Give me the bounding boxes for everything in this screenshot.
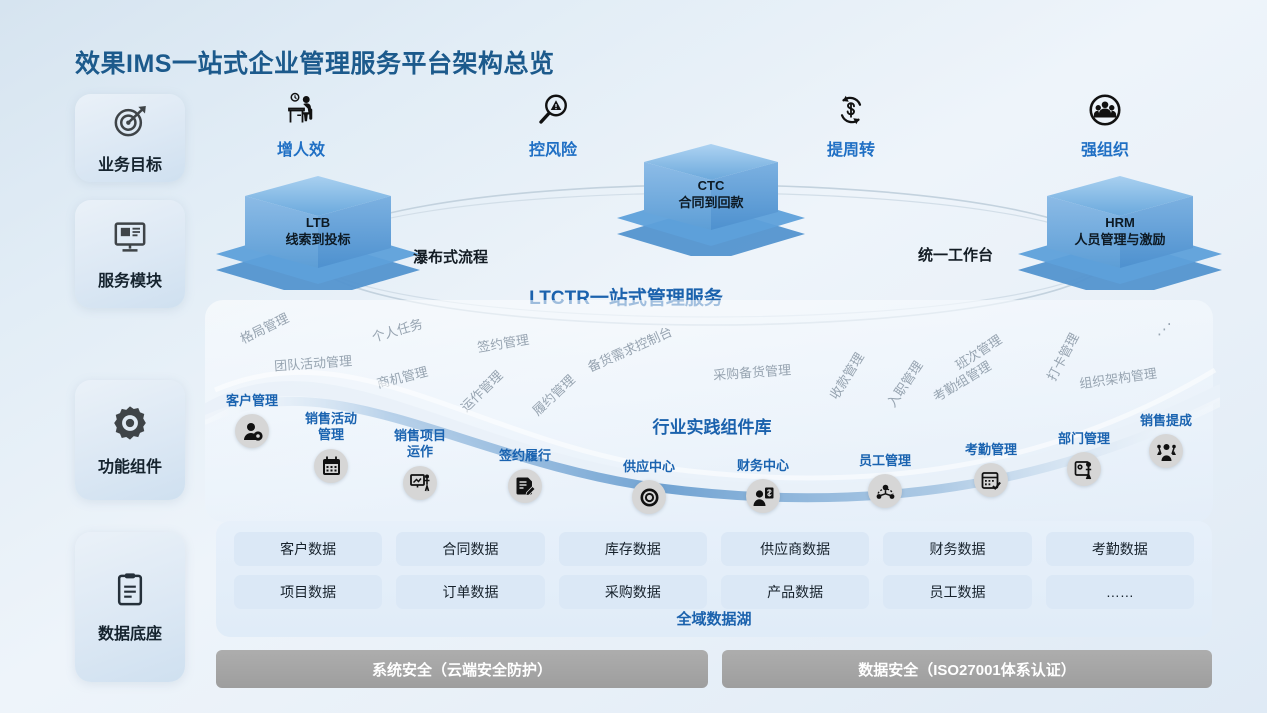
component-node-label: 销售提成: [1140, 413, 1192, 429]
monitor-icon: [110, 217, 150, 257]
people-circle-icon: [1087, 92, 1123, 128]
cycle-money-icon: [833, 92, 869, 128]
data-lake-cell[interactable]: 员工数据: [883, 575, 1031, 609]
data-lake-cell[interactable]: 合同数据: [396, 532, 544, 566]
component-node[interactable]: 考勤管理: [943, 442, 1039, 497]
target-icon: [110, 101, 150, 141]
sidebar-item-label: 服务模块: [98, 267, 162, 291]
sidebar-item-label: 业务目标: [98, 151, 162, 175]
data-lake-title: 全域数据湖: [216, 608, 1212, 629]
data-lake-cell[interactable]: 供应商数据: [721, 532, 869, 566]
commission-icon[interactable]: [1149, 434, 1183, 468]
calendar-icon[interactable]: [314, 449, 348, 483]
component-node[interactable]: 销售提成: [1118, 413, 1214, 468]
sidebar-item-label: 功能组件: [98, 453, 162, 477]
component-node[interactable]: 供应中心: [601, 459, 697, 514]
component-node-label: 财务中心: [737, 458, 789, 474]
component-node-label: 员工管理: [859, 453, 911, 469]
user-gear-icon[interactable]: [235, 414, 269, 448]
goal-label: 增人效: [277, 136, 325, 160]
sidebar-item-business-goal[interactable]: 业务目标: [75, 94, 185, 182]
gear-icon: [110, 403, 150, 443]
presentation-icon[interactable]: [403, 466, 437, 500]
goal-control-risk[interactable]: 控风险: [493, 92, 613, 160]
magnifier-warning-icon: [535, 92, 571, 128]
page-title: 效果IMS一站式企业管理服务平台架构总览: [75, 44, 554, 80]
data-lake-cell[interactable]: 客户数据: [234, 532, 382, 566]
component-node-label: 签约履行: [499, 448, 551, 464]
component-node[interactable]: 销售项目 运作: [372, 428, 468, 500]
attendance-icon[interactable]: [974, 463, 1008, 497]
component-node-label: 考勤管理: [965, 442, 1017, 458]
goal-label: 强组织: [1081, 136, 1129, 160]
component-node[interactable]: 财务中心: [715, 458, 811, 513]
flow-label-waterfall: 瀑布式流程: [413, 246, 488, 267]
component-node-label: 客户管理: [226, 393, 278, 409]
data-lake-cell[interactable]: ……: [1046, 575, 1194, 609]
supply-gear-icon[interactable]: [632, 480, 666, 514]
data-lake-cell[interactable]: 采购数据: [559, 575, 707, 609]
data-lake-cell[interactable]: 库存数据: [559, 532, 707, 566]
goal-label: 提周转: [827, 136, 875, 160]
data-lake-cell[interactable]: 项目数据: [234, 575, 382, 609]
finance-person-icon[interactable]: [746, 479, 780, 513]
goal-strengthen-organization[interactable]: 强组织: [1045, 92, 1165, 160]
data-lake-cell[interactable]: 订单数据: [396, 575, 544, 609]
sidebar-item-label: 数据底座: [98, 620, 162, 644]
module-cube-ltb[interactable]: LTB 线索到投标: [198, 170, 438, 290]
component-node-label: 部门管理: [1058, 431, 1110, 447]
security-bar-data[interactable]: 数据安全（ISO27001体系认证）: [722, 650, 1212, 688]
component-node-label: 销售活动 管理: [305, 411, 357, 444]
architecture-diagram: 效果IMS一站式企业管理服务平台架构总览 业务目标 服务模块 功能: [0, 0, 1267, 713]
component-node[interactable]: 销售活动 管理: [283, 411, 379, 483]
staff-network-icon[interactable]: [868, 474, 902, 508]
sidebar-item-data-foundation[interactable]: 数据底座: [75, 532, 185, 682]
data-lake-cell[interactable]: 产品数据: [721, 575, 869, 609]
data-lake-panel: 客户数据合同数据库存数据供应商数据财务数据考勤数据项目数据订单数据采购数据产品数…: [216, 521, 1212, 637]
security-bar-system[interactable]: 系统安全（云端安全防护）: [216, 650, 708, 688]
module-cube-ctc[interactable]: CTC 合同到回款: [601, 138, 821, 256]
component-node-label: 销售项目 运作: [394, 428, 446, 461]
component-node[interactable]: 签约履行: [477, 448, 573, 503]
data-lake-grid: 客户数据合同数据库存数据供应商数据财务数据考勤数据项目数据订单数据采购数据产品数…: [234, 532, 1194, 609]
sidebar-item-service-module[interactable]: 服务模块: [75, 200, 185, 308]
sidebar-item-function-component[interactable]: 功能组件: [75, 380, 185, 500]
clipboard-icon: [110, 570, 150, 610]
contract-sign-icon[interactable]: [508, 469, 542, 503]
data-lake-cell[interactable]: 考勤数据: [1046, 532, 1194, 566]
goal-increase-efficiency[interactable]: 增人效: [241, 92, 361, 160]
department-icon[interactable]: [1067, 452, 1101, 486]
flow-label-unified-workbench: 统一工作台: [918, 244, 993, 265]
component-library-title: 行业实践组件库: [653, 413, 772, 438]
component-node-label: 供应中心: [623, 459, 675, 475]
module-cube-hrm[interactable]: HRM 人员管理与激励: [1000, 170, 1240, 290]
data-lake-cell[interactable]: 财务数据: [883, 532, 1031, 566]
component-node[interactable]: 员工管理: [837, 453, 933, 508]
goal-label: 控风险: [529, 136, 577, 160]
desk-clock-icon: [283, 92, 319, 128]
